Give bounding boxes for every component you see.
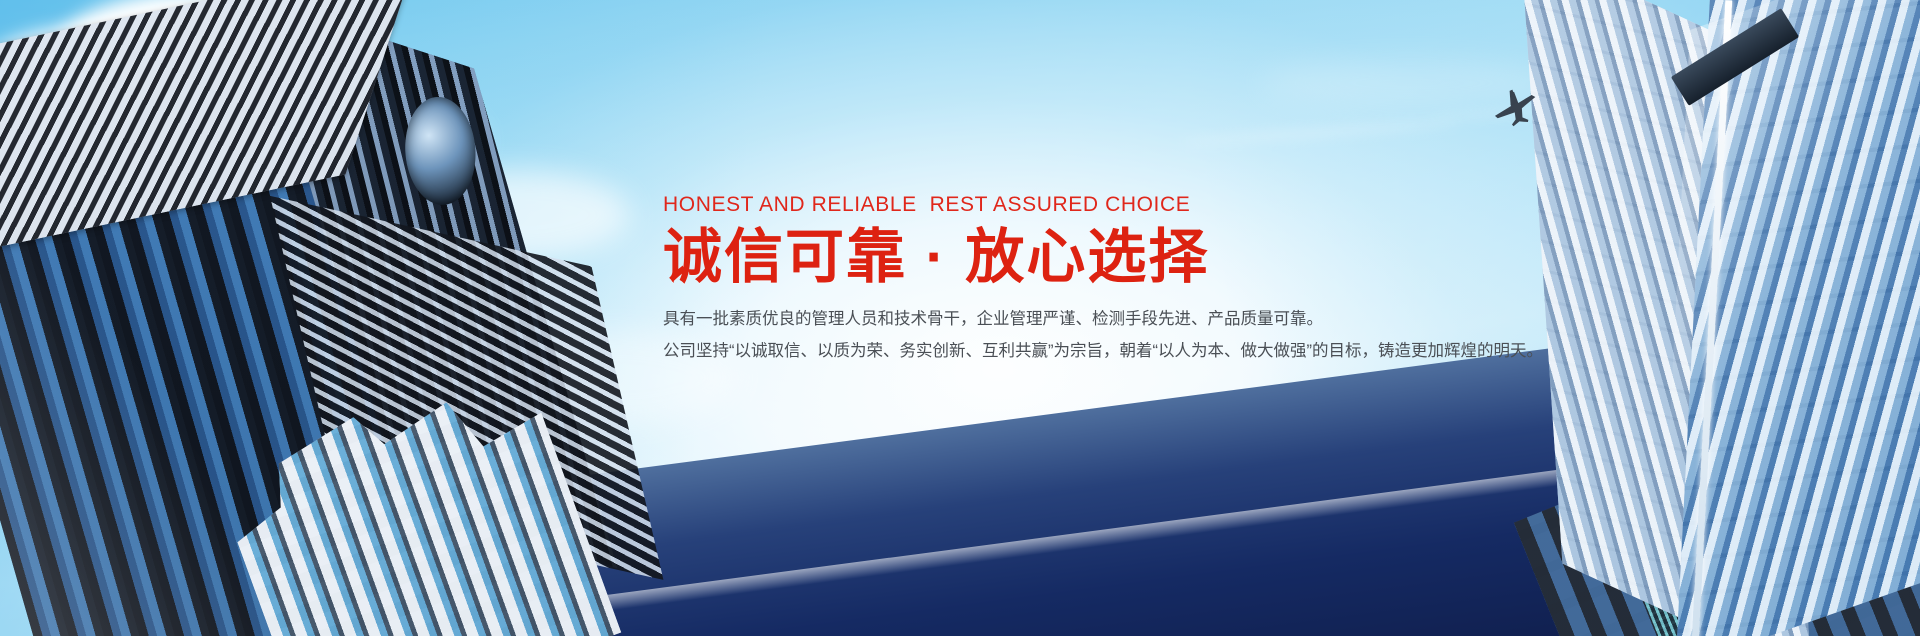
banner-body-line-2: 公司坚持“以诚取信、以质为荣、务实创新、互利共赢”为宗旨，朝着“以人为本、做大做… <box>663 335 1363 367</box>
banner-copy: HONEST AND RELIABLE REST ASSURED CHOICE … <box>663 193 1363 368</box>
banner-body: 具有一批素质优良的管理人员和技术骨干，企业管理严谨、检测手段先进、产品质量可靠。… <box>663 303 1363 367</box>
banner-body-line-1: 具有一批素质优良的管理人员和技术骨干，企业管理严谨、检测手段先进、产品质量可靠。 <box>663 303 1363 335</box>
hero-banner: HONEST AND RELIABLE REST ASSURED CHOICE … <box>0 0 1920 636</box>
right-building <box>1510 30 1920 636</box>
banner-headline: 诚信可靠 · 放心选择 <box>663 224 1363 290</box>
airplane-icon <box>1487 84 1543 128</box>
banner-eyebrow: HONEST AND RELIABLE REST ASSURED CHOICE <box>663 193 1363 217</box>
